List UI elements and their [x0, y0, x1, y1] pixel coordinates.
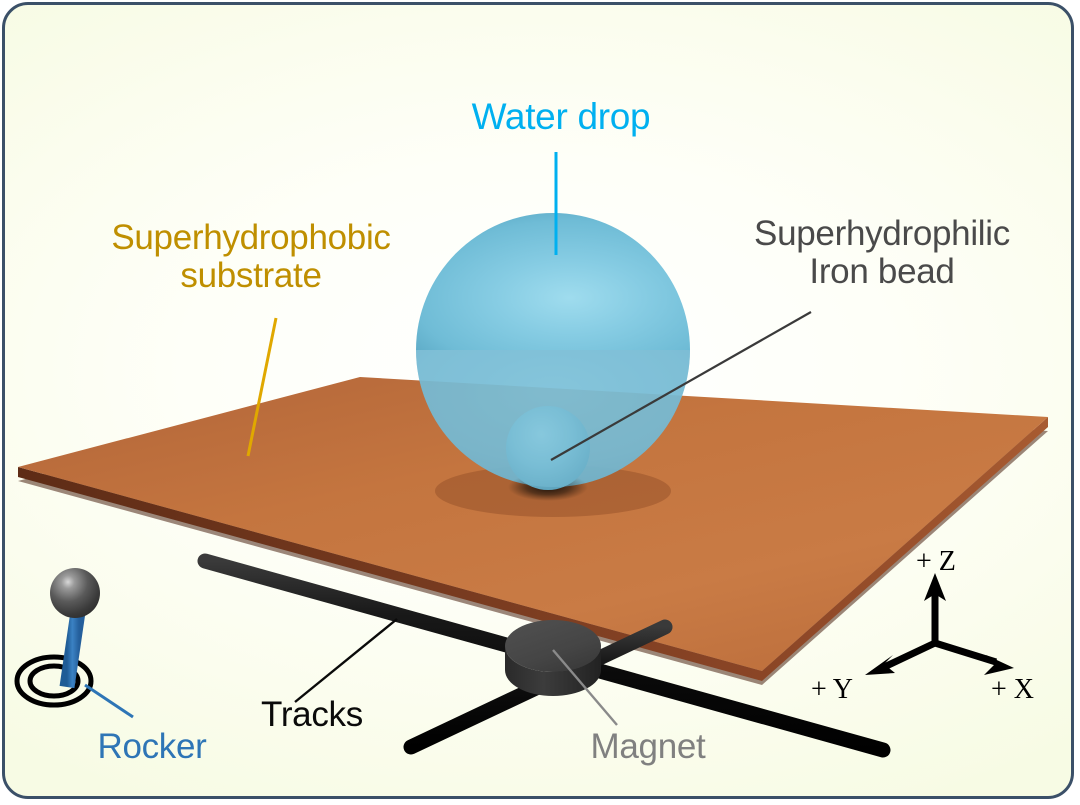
label-magnet: Magnet: [591, 728, 706, 766]
figure-container: Water drop Superhydrophobic substrate Su…: [0, 0, 1080, 805]
axis-z-arrow: [924, 573, 946, 643]
leader-rocker: [85, 685, 133, 717]
label-rocker: Rocker: [97, 728, 206, 766]
leader-tracks: [295, 619, 397, 702]
label-superhydrophobic-substrate: Superhydrophobic substrate: [111, 219, 390, 295]
axis-x-arrow: [935, 643, 1014, 675]
rocker-knob: [50, 568, 100, 618]
axis-label-x: + X: [991, 674, 1034, 706]
label-superhydrophilic-iron-bead: Superhydrophilic Iron bead: [754, 215, 1010, 291]
axis-triad: [865, 573, 1014, 675]
magnet-group: [505, 620, 601, 696]
figure-frame: Water drop Superhydrophobic substrate Su…: [2, 2, 1074, 799]
axis-y-arrow: [865, 643, 935, 675]
axis-label-z: + Z: [916, 546, 956, 578]
water-drop-upper-hemisphere: [416, 213, 690, 350]
rocker-group: [17, 568, 100, 705]
label-tracks: Tracks: [261, 696, 363, 734]
magnet-top-face: [505, 620, 601, 672]
axis-label-y: + Y: [811, 674, 853, 706]
label-water-drop: Water drop: [472, 97, 651, 137]
